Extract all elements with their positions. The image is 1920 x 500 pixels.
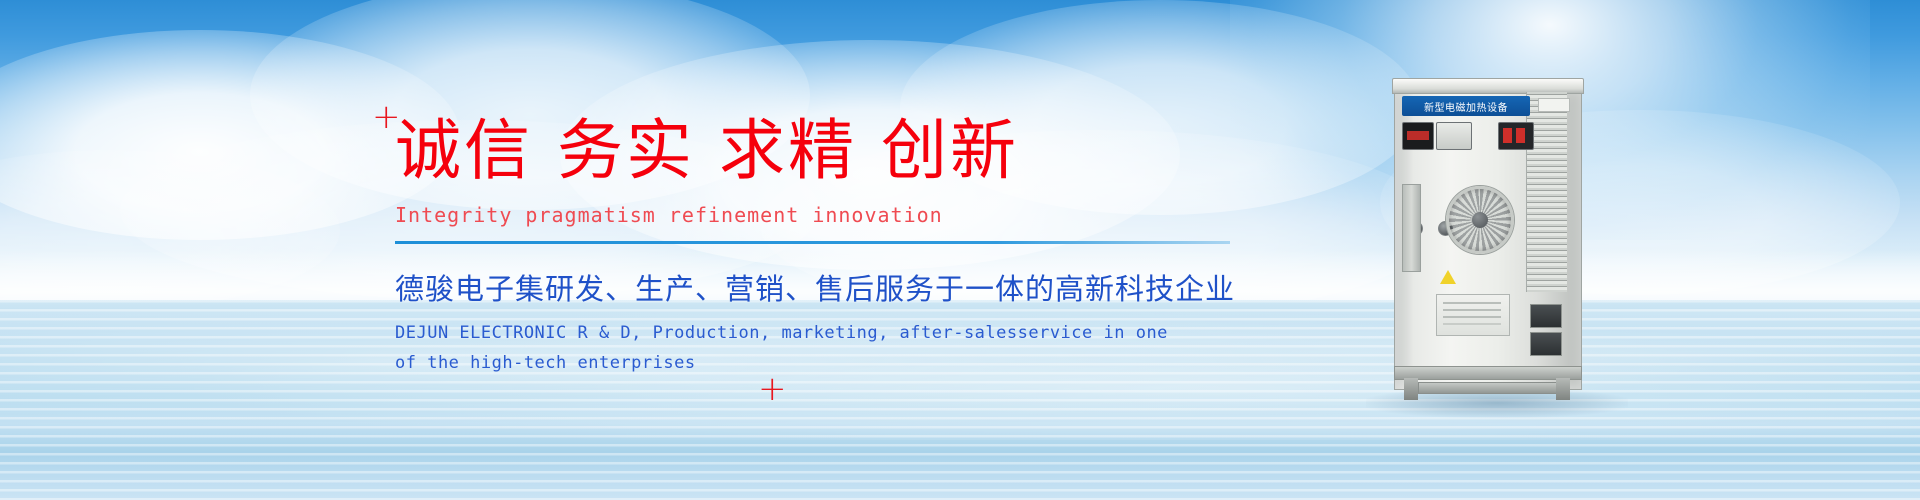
subtitle-english-line-1: DEJUN ELECTRONIC R & D, Production, mark… bbox=[395, 319, 1265, 349]
subtitle-english: DEJUN ELECTRONIC R & D, Production, mark… bbox=[395, 319, 1265, 379]
base-skirt bbox=[1418, 382, 1558, 394]
control-panel bbox=[1402, 122, 1568, 160]
door-edge-strip bbox=[1402, 184, 1421, 272]
subtitle-english-line-2: of the high-tech enterprises bbox=[395, 349, 1265, 379]
promotional-banner: + + 诚信 务实 求精 创新 Integrity pragmatism ref… bbox=[0, 0, 1920, 500]
cabinet-base bbox=[1394, 366, 1582, 380]
cabinet-foot bbox=[1556, 378, 1570, 400]
side-tag bbox=[1538, 98, 1570, 112]
headline-english: Integrity pragmatism refinement innovati… bbox=[395, 203, 1265, 227]
product-image-induction-heater: 新型电磁加热设备 bbox=[1380, 66, 1610, 416]
lower-vent bbox=[1530, 304, 1562, 328]
display-meter-left bbox=[1402, 122, 1434, 150]
analog-gauge bbox=[1436, 122, 1472, 150]
cabinet-foot bbox=[1404, 378, 1418, 400]
subtitle-chinese: 德骏电子集研发、生产、营销、售后服务于一体的高新科技企业 bbox=[395, 266, 1265, 308]
divider-line bbox=[395, 241, 1230, 244]
product-name-label: 新型电磁加热设备 bbox=[1402, 96, 1530, 116]
fan-vent-icon bbox=[1446, 186, 1514, 254]
lower-vent bbox=[1530, 332, 1562, 356]
product-name-label-text: 新型电磁加热设备 bbox=[1424, 99, 1508, 114]
specification-plate bbox=[1436, 294, 1510, 336]
headline-chinese: 诚信 务实 求精 创新 bbox=[395, 118, 1265, 184]
display-meter-right bbox=[1498, 122, 1534, 150]
banner-text-block: 诚信 务实 求精 创新 Integrity pragmatism refinem… bbox=[395, 118, 1265, 379]
